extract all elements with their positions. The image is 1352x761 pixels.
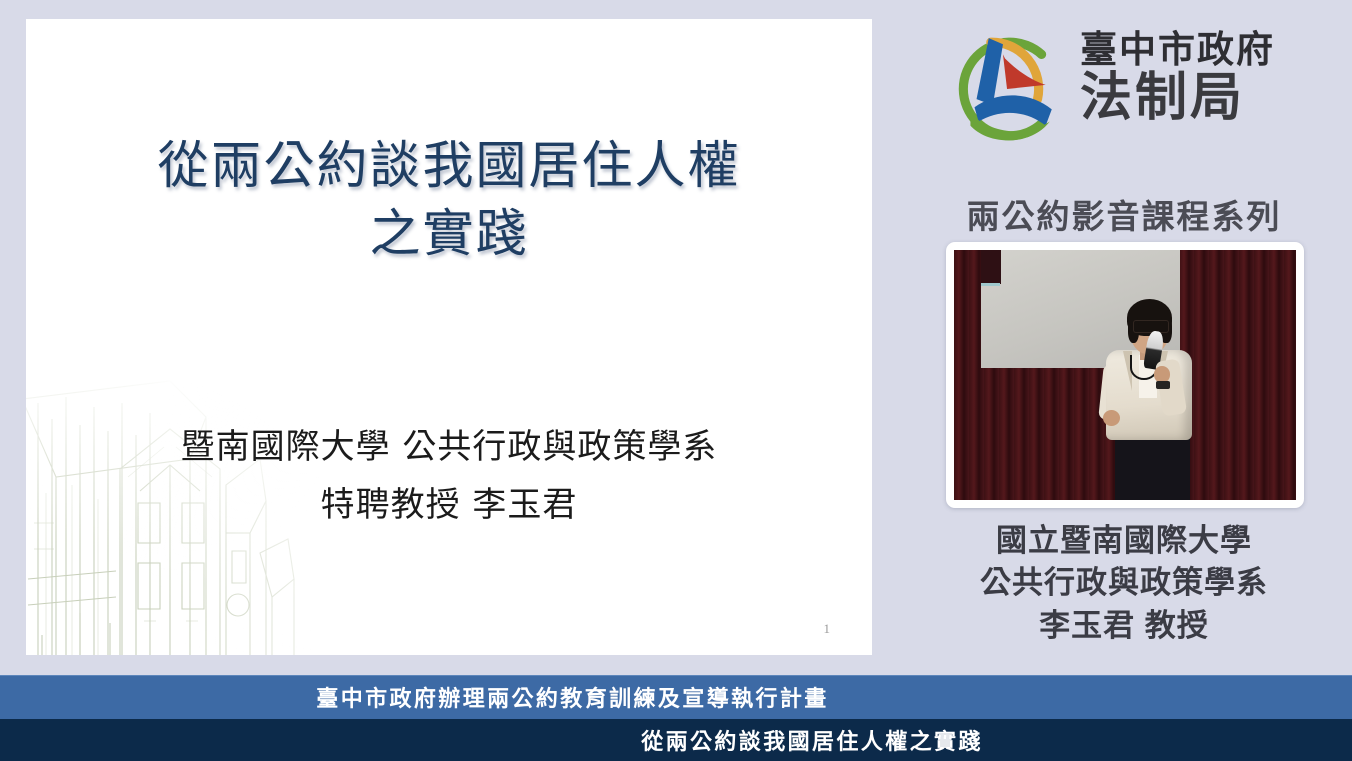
episode-title: 從兩公約談我國居住人權之實踐 bbox=[0, 719, 1352, 761]
speaker-left-hand bbox=[1103, 410, 1120, 426]
program-title: 臺中市政府辦理兩公約教育訓練及宣導執行計畫 bbox=[0, 675, 1145, 719]
presentation-slide: 從兩公約談我國居住人權 之實踐 暨南國際大學 公共行政與政策學系 特聘教授 李玉… bbox=[26, 19, 872, 655]
brand-block: 臺中市政府 法制局 兩公約影音課程系列 bbox=[896, 22, 1352, 222]
screen-root: 從兩公約談我國居住人權 之實踐 暨南國際大學 公共行政與政策學系 特聘教授 李玉… bbox=[0, 0, 1352, 761]
projection-screen-notch bbox=[981, 250, 1001, 284]
slide-subtitle: 暨南國際大學 公共行政與政策學系 特聘教授 李玉君 bbox=[26, 418, 872, 535]
right-info-column: 臺中市政府 法制局 兩公約影音課程系列 bbox=[896, 0, 1352, 672]
speaker-wristwatch bbox=[1156, 381, 1170, 389]
series-label: 兩公約影音課程系列 bbox=[896, 190, 1352, 238]
org-name-line1: 臺中市政府 bbox=[1080, 30, 1275, 70]
brand-row: 臺中市政府 法制局 bbox=[944, 22, 1275, 150]
lecture-thumbnail-card[interactable] bbox=[946, 242, 1304, 508]
lecture-speaker-photo bbox=[954, 250, 1296, 500]
projection-screen-edge bbox=[981, 283, 1000, 286]
brand-wordmark: 臺中市政府 法制局 bbox=[1080, 22, 1275, 126]
bottom-banner: 臺中市政府辦理兩公約教育訓練及宣導執行計畫 從兩公約談我國居住人權之實踐 bbox=[0, 675, 1352, 761]
taichung-city-government-sailboat-logo-icon bbox=[944, 28, 1066, 150]
speaker-credit: 國立暨南國際大學 公共行政與政策學系 李玉君 教授 bbox=[896, 520, 1352, 647]
org-name-line2: 法制局 bbox=[1080, 71, 1275, 126]
slide-title: 從兩公約談我國居住人權 之實踐 bbox=[26, 133, 872, 269]
speaker-right-hand bbox=[1154, 366, 1170, 382]
slide-page-number: 1 bbox=[824, 621, 831, 637]
